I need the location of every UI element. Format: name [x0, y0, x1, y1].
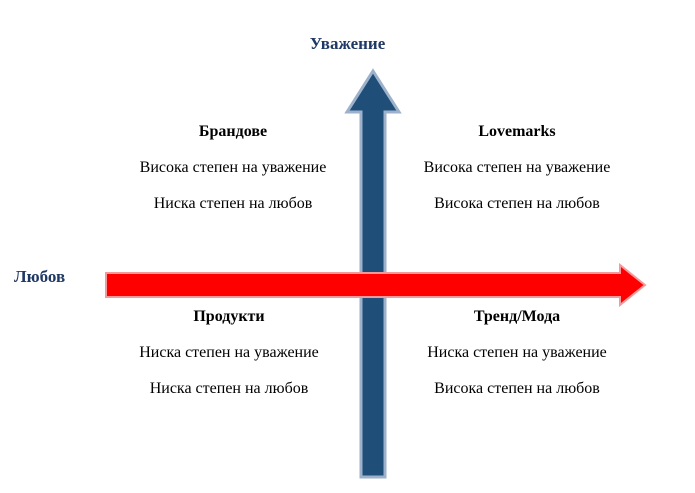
quadrant-bottom-left-line-2: Ниска степен на любов	[104, 378, 354, 400]
quadrant-top-right: Lovemarks Висока степен на уважение Висо…	[392, 121, 642, 229]
quadrant-bottom-right-line-2: Висока степен на любов	[392, 378, 642, 400]
lovemarks-quadrant-diagram: Уважение Любов Брандове Висока степен на…	[0, 0, 695, 493]
vertical-axis-label: Уважение	[0, 34, 695, 54]
quadrant-top-left: Брандове Висока степен на уважение Ниска…	[108, 121, 358, 229]
quadrant-bottom-left: Продукти Ниска степен на уважение Ниска …	[104, 306, 354, 414]
quadrant-bottom-left-title: Продукти	[104, 306, 354, 328]
quadrant-top-left-title: Брандове	[108, 121, 358, 143]
quadrant-bottom-right-title: Тренд/Мода	[392, 306, 642, 328]
quadrant-top-left-line-1: Висока степен на уважение	[108, 157, 358, 179]
quadrant-bottom-right: Тренд/Мода Ниска степен на уважение Висо…	[392, 306, 642, 414]
quadrant-top-right-line-2: Висока степен на любов	[392, 193, 642, 215]
quadrant-bottom-left-line-1: Ниска степен на уважение	[104, 342, 354, 364]
horizontal-axis-label: Любов	[14, 267, 65, 287]
quadrant-bottom-right-line-1: Ниска степен на уважение	[392, 342, 642, 364]
horizontal-arrow	[104, 263, 648, 307]
quadrant-top-left-line-2: Ниска степен на любов	[108, 193, 358, 215]
quadrant-top-right-title: Lovemarks	[392, 121, 642, 143]
quadrant-top-right-line-1: Висока степен на уважение	[392, 157, 642, 179]
